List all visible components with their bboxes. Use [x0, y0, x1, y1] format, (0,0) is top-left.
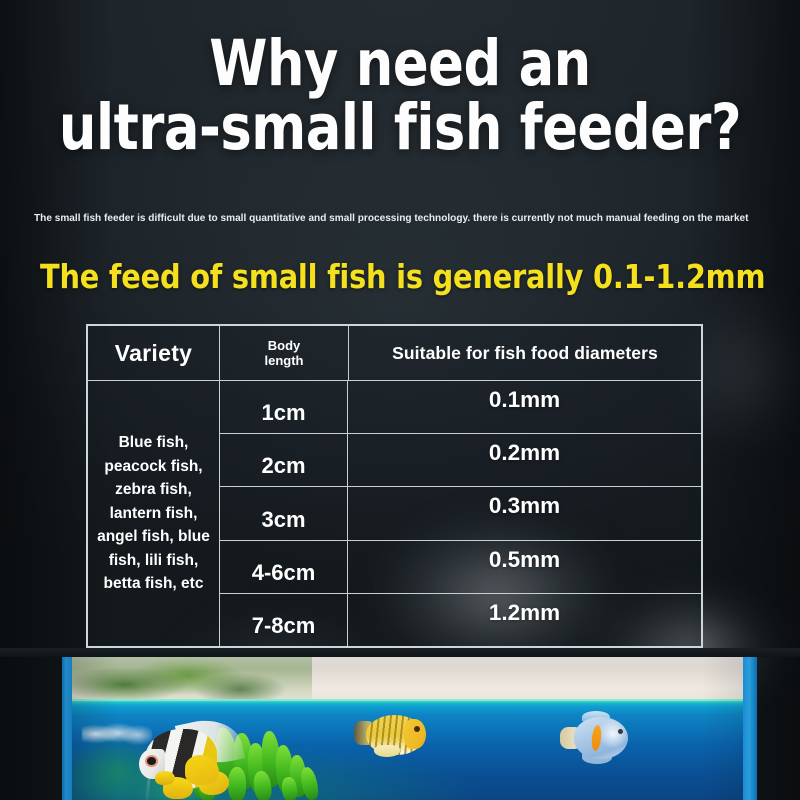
tank-frame-right [743, 657, 757, 800]
diameter-value: 0.5mm [348, 541, 701, 593]
page-title: Why need an ultra-small fish feeder? [28, 32, 772, 160]
aquarium-tank [62, 657, 757, 800]
body-length-value: 4-6cm [220, 541, 348, 593]
feed-size-kicker: The feed of small fish is generally 0.1-… [40, 258, 765, 296]
fish-feed-table: Variety Body length Suitable for fish fo… [86, 324, 703, 648]
page-subtitle: The small fish feeder is difficult due t… [34, 211, 742, 225]
table-row: 4-6cm 0.5mm [220, 541, 701, 594]
diameter-value: 0.2mm [348, 434, 701, 486]
fish-yellow-tang [354, 711, 430, 761]
diameter-value: 1.2mm [348, 594, 701, 646]
measurement-rows: 1cm 0.1mm 2cm 0.2mm 3cm 0.3mm 4-6cm 0.5m… [220, 381, 701, 646]
body-length-value: 2cm [220, 434, 348, 486]
column-header-body-length: Body length [220, 326, 349, 380]
diameter-value: 0.1mm [348, 381, 701, 433]
angelfish-eye [618, 729, 623, 734]
table-row: 7-8cm 1.2mm [220, 594, 701, 646]
fish-bannerfish [137, 721, 235, 797]
aquarium-photo [62, 657, 757, 800]
column-header-diameter: Suitable for fish food diameters [349, 326, 701, 380]
tank-glass-highlight [72, 657, 743, 705]
body-length-value: 7-8cm [220, 594, 348, 646]
promo-page: Why need an ultra-small fish feeder? The… [0, 0, 800, 800]
yellow-tang-anal-fin [374, 745, 400, 757]
variety-cell-text: Blue fish, peacock fish, zebra fish, lan… [88, 431, 219, 596]
table-header-row: Variety Body length Suitable for fish fo… [88, 326, 701, 381]
photo-gap [0, 648, 800, 657]
variety-cell: Blue fish, peacock fish, zebra fish, lan… [88, 381, 220, 646]
table-row: 1cm 0.1mm [220, 381, 701, 434]
table-body: Blue fish, peacock fish, zebra fish, lan… [88, 381, 701, 646]
bannerfish-yellow-fin-upper [185, 755, 219, 785]
table-row: 3cm 0.3mm [220, 487, 701, 540]
table-row: 2cm 0.2mm [220, 434, 701, 487]
bannerfish-eye [147, 757, 156, 765]
yellow-tang-head [404, 719, 426, 749]
diameter-value: 0.3mm [348, 487, 701, 539]
bannerfish-pectoral-fin [155, 771, 175, 785]
body-length-value: 3cm [220, 487, 348, 539]
yellow-tang-eye [414, 726, 420, 732]
tank-frame-left [62, 657, 72, 800]
fish-pale-angelfish [560, 711, 638, 767]
body-length-value: 1cm [220, 381, 348, 433]
column-header-variety: Variety [88, 326, 220, 380]
